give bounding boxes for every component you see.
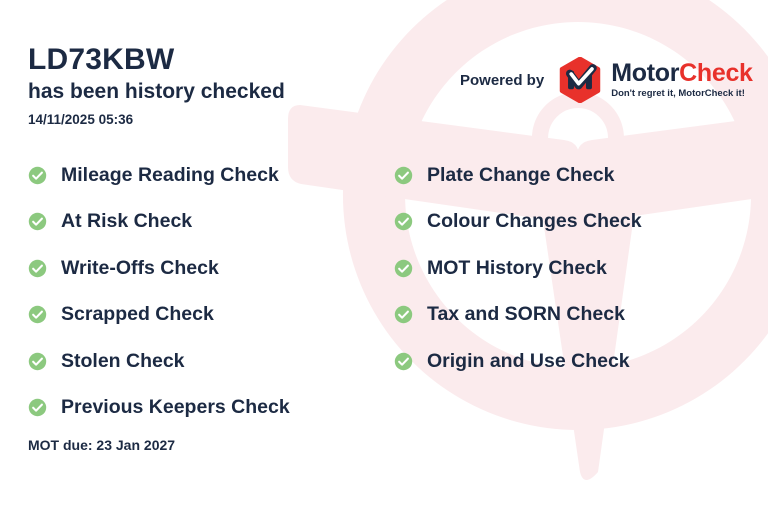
checklist-column-right: Plate Change Check Colour Changes Check …: [394, 152, 764, 385]
check-item-write-offs: Write-Offs Check: [28, 245, 388, 292]
wordmark-motor: Motor: [611, 59, 679, 87]
check-item-label: Stolen Check: [61, 350, 185, 373]
check-circle-icon: [394, 212, 413, 231]
check-item-at-risk: At Risk Check: [28, 199, 388, 246]
check-circle-icon: [28, 212, 47, 231]
brand-tagline: Don't regret it, MotorCheck it!: [611, 89, 752, 99]
powered-by-label: Powered by: [460, 72, 544, 89]
check-item-label: Origin and Use Check: [427, 350, 630, 373]
check-item-label: Mileage Reading Check: [61, 164, 279, 187]
check-circle-icon: [28, 166, 47, 185]
check-item-label: Previous Keepers Check: [61, 396, 290, 419]
vehicle-registration-plate: LD73KBW: [28, 44, 285, 76]
check-item-label: Colour Changes Check: [427, 210, 642, 233]
mot-due-text: MOT due: 23 Jan 2027: [28, 437, 175, 453]
check-item-label: Write-Offs Check: [61, 257, 219, 280]
check-circle-icon: [394, 305, 413, 324]
check-item-origin-and-use: Origin and Use Check: [394, 338, 764, 385]
check-circle-icon: [28, 305, 47, 324]
check-item-label: Tax and SORN Check: [427, 303, 625, 326]
wordmark-check: Check: [679, 59, 753, 87]
motorcheck-logo[interactable]: MotorCheck Don't regret it, MotorCheck i…: [557, 57, 752, 103]
check-item-label: MOT History Check: [427, 257, 607, 280]
check-circle-icon: [28, 352, 47, 371]
check-timestamp: 14/11/2025 05:36: [28, 112, 285, 127]
check-circle-icon: [394, 352, 413, 371]
check-item-tax-and-sorn: Tax and SORN Check: [394, 292, 764, 339]
check-item-stolen: Stolen Check: [28, 338, 388, 385]
check-item-label: At Risk Check: [61, 210, 192, 233]
check-item-colour-changes: Colour Changes Check: [394, 199, 764, 246]
check-item-label: Scrapped Check: [61, 303, 214, 326]
check-circle-icon: [28, 398, 47, 417]
check-item-mot-history: MOT History Check: [394, 245, 764, 292]
motorcheck-wordmark: MotorCheck: [611, 61, 752, 86]
check-item-mileage-reading: Mileage Reading Check: [28, 152, 388, 199]
check-item-scrapped: Scrapped Check: [28, 292, 388, 339]
check-item-label: Plate Change Check: [427, 164, 614, 187]
check-circle-icon: [28, 259, 47, 278]
check-item-previous-keepers: Previous Keepers Check: [28, 385, 388, 432]
page-title: has been history checked: [28, 79, 285, 105]
check-item-plate-change: Plate Change Check: [394, 152, 764, 199]
motorcheck-hexagon-logo-icon: [557, 57, 603, 103]
check-circle-icon: [394, 259, 413, 278]
powered-by-branding: Powered by MotorCheck Don't regret it, M…: [460, 57, 753, 103]
checklist-column-left: Mileage Reading Check At Risk Check Writ…: [28, 152, 388, 431]
check-circle-icon: [394, 166, 413, 185]
vehicle-history-check-card: LD73KBW has been history checked 14/11/2…: [0, 0, 768, 512]
header: LD73KBW has been history checked 14/11/2…: [28, 44, 285, 127]
